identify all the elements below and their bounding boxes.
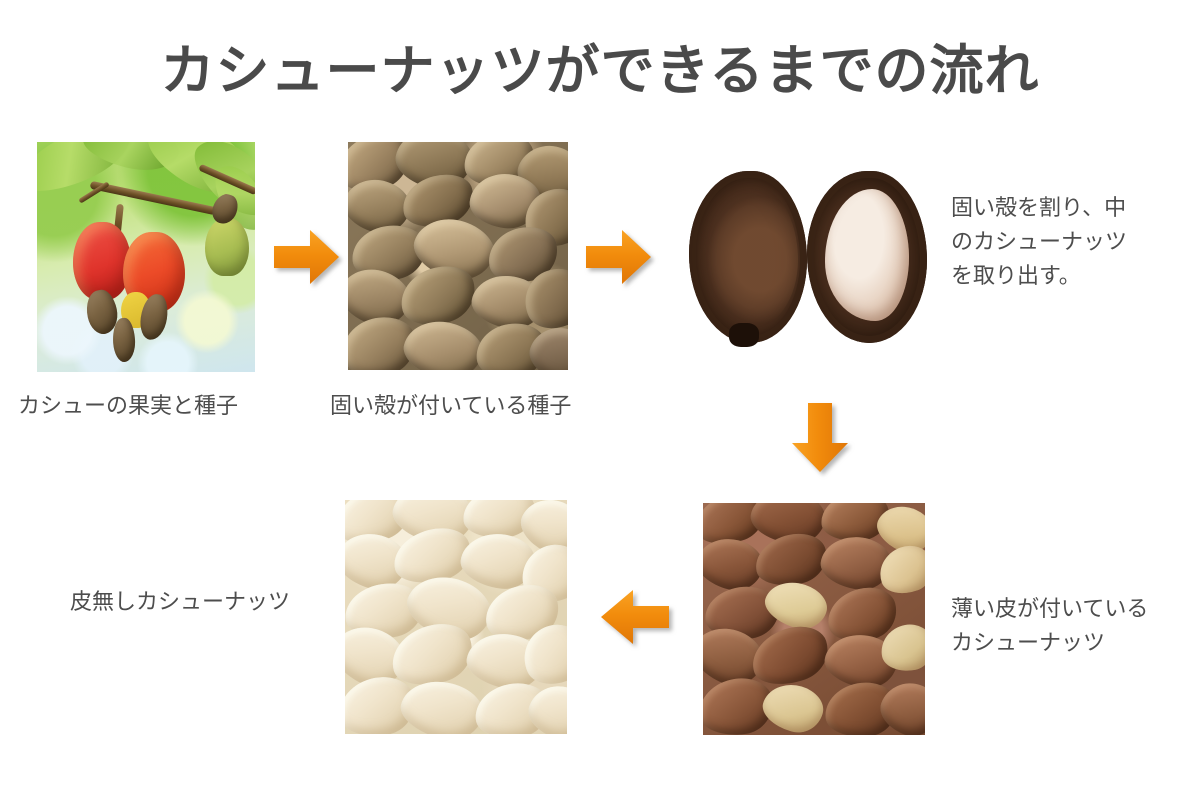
caption-step-1: カシューの果実と種子 [18,390,318,424]
cashew-apple-shape [73,222,131,300]
arrow-right-step1-to-step2 [274,228,340,286]
shell-stem [729,323,759,347]
caption-step-4: 薄い皮が付いている カシューナッツ [951,593,1191,661]
hard-shell-seeds-photo [348,142,568,370]
cashew-fruit-and-seed-photo [37,142,255,372]
caption-step-2: 固い殻が付いている種子 [330,390,650,424]
page-title: カシューナッツができるまでの流れ [0,26,1200,105]
infographic-canvas: カシューナッツができるまでの流れ [0,0,1200,800]
arrow-right-step2-to-step3 [586,228,652,286]
peeled-cashews-photo [345,500,567,734]
cracked-shell-photo [685,163,930,353]
cashew-apple-shape [205,218,249,276]
shell-half-right [807,171,927,343]
arrow-left-step4-to-step5 [600,588,670,646]
shell-half-left [689,171,807,343]
arrow-down-step3-to-step4 [791,403,849,473]
thin-skin-cashews-photo [703,503,925,735]
shell-rim [689,171,807,343]
caption-step-3: 固い殻を割り、中 のカシューナッツ を取り出す。 [951,192,1191,294]
caption-step-5: 皮無しカシューナッツ [70,586,340,620]
